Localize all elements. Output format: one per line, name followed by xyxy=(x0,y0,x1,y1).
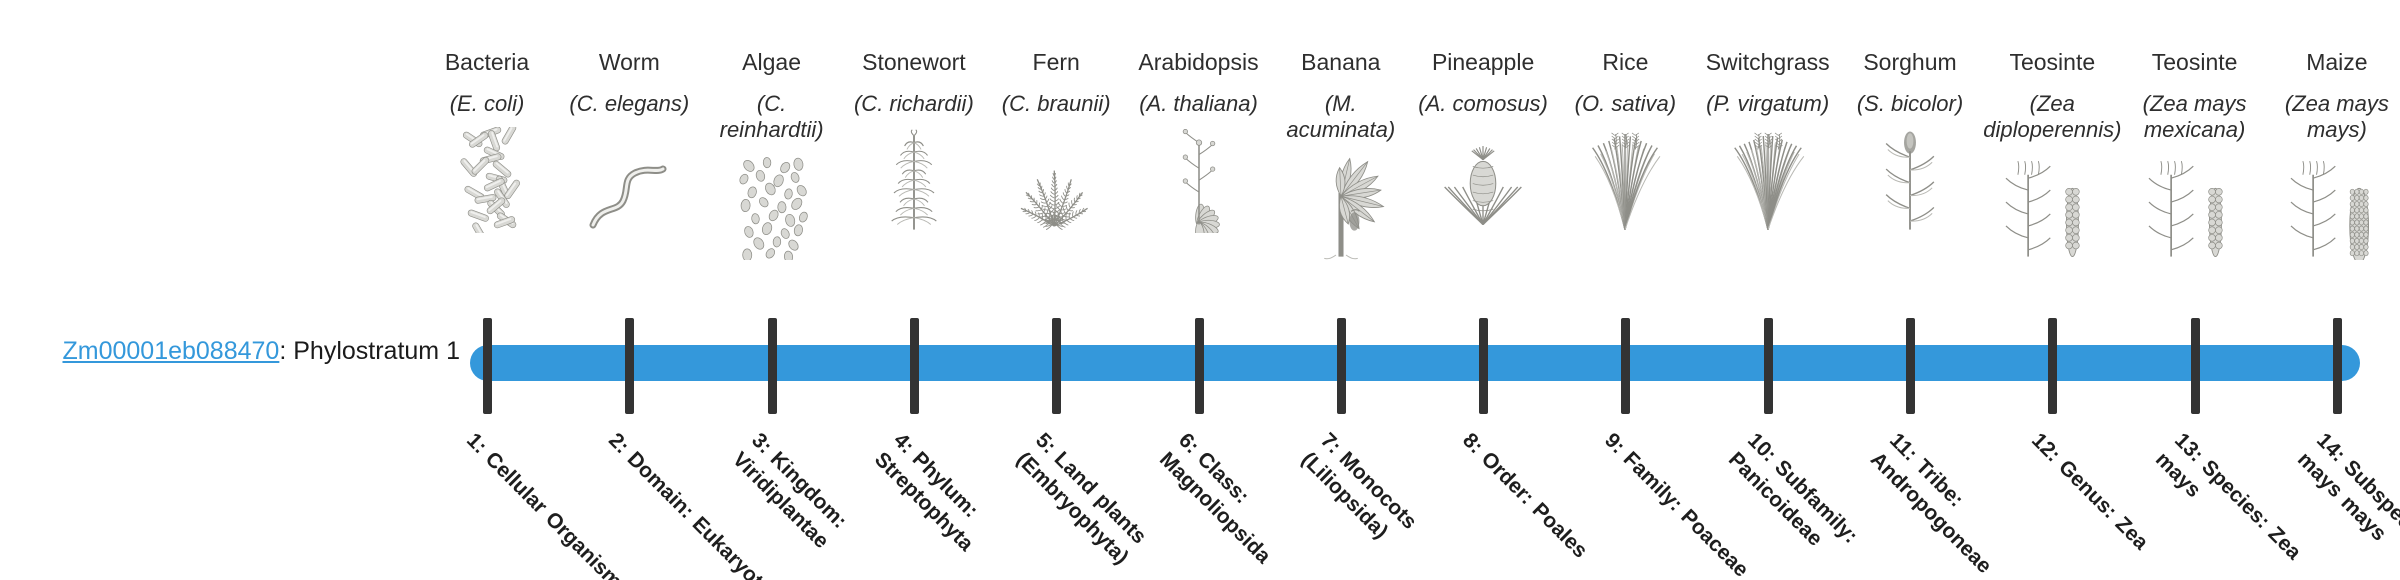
species-scientific-name: (Zea diploperennis) xyxy=(1981,91,2123,144)
species-scientific-name: (S. bicolor) xyxy=(1839,91,1981,117)
species-column: Sorghum(S. bicolor) xyxy=(1839,48,1981,233)
fern-icon xyxy=(985,125,1127,233)
species-column: Bacteria(E. coli) xyxy=(416,48,558,233)
switchgrass-icon xyxy=(1697,125,1839,233)
timeline-tick xyxy=(2333,318,2342,414)
species-scientific-name: (Zea mays mexicana) xyxy=(2124,91,2266,144)
gene-id-link[interactable]: Zm00001eb088470 xyxy=(62,337,279,365)
sorghum-icon xyxy=(1839,125,1981,233)
species-common-name: Bacteria xyxy=(416,48,558,77)
banana-icon xyxy=(1270,152,1412,260)
species-common-name: Teosinte xyxy=(1981,48,2123,77)
species-common-name: Fern xyxy=(985,48,1127,77)
bacteria-icon xyxy=(416,125,558,233)
species-common-name: Maize xyxy=(2266,48,2400,77)
teosinte-diploperennis-icon xyxy=(1981,152,2123,260)
timeline-tick xyxy=(2191,318,2200,414)
species-scientific-name: (C. elegans) xyxy=(558,91,700,117)
species-column: Teosinte(Zea mays mexicana) xyxy=(2124,48,2266,260)
timeline-tick xyxy=(768,318,777,414)
species-scientific-name: (C. richardii) xyxy=(843,91,985,117)
species-common-name: Switchgrass xyxy=(1697,48,1839,77)
timeline-tick xyxy=(1906,318,1915,414)
species-column: Maize(Zea mays mays) xyxy=(2266,48,2400,260)
timeline-tick xyxy=(1052,318,1061,414)
species-scientific-name: (C. braunii) xyxy=(985,91,1127,117)
species-column: Pineapple(A. comosus) xyxy=(1412,48,1554,233)
phylostratum-value: Phylostratum 1 xyxy=(293,337,460,365)
species-scientific-name: (Zea mays mays) xyxy=(2266,91,2400,144)
species-common-name: Stonewort xyxy=(843,48,985,77)
worm-icon xyxy=(558,125,700,233)
species-column: Teosinte(Zea diploperennis) xyxy=(1981,48,2123,260)
species-common-name: Banana xyxy=(1270,48,1412,77)
species-scientific-name: (O. sativa) xyxy=(1554,91,1696,117)
species-column: Banana(M. acuminata) xyxy=(1270,48,1412,260)
stonewort-icon xyxy=(843,125,985,233)
timeline-tick xyxy=(1195,318,1204,414)
timeline-tick xyxy=(1764,318,1773,414)
maize-icon xyxy=(2266,152,2400,260)
species-common-name: Pineapple xyxy=(1412,48,1554,77)
teosinte-mexicana-icon xyxy=(2124,152,2266,260)
timeline-tick xyxy=(625,318,634,414)
species-common-name: Teosinte xyxy=(2124,48,2266,77)
species-scientific-name: (C. reinhardtii) xyxy=(701,91,843,144)
timeline-tick xyxy=(483,318,492,414)
pineapple-icon xyxy=(1412,125,1554,233)
timeline-tick xyxy=(1479,318,1488,414)
gene-label-separator: : xyxy=(279,337,293,365)
species-scientific-name: (A. comosus) xyxy=(1412,91,1554,117)
timeline-tick xyxy=(2048,318,2057,414)
species-column: Stonewort(C. richardii) xyxy=(843,48,985,233)
rice-icon xyxy=(1554,125,1696,233)
species-common-name: Algae xyxy=(701,48,843,77)
species-column: Fern(C. braunii) xyxy=(985,48,1127,233)
species-scientific-name: (M. acuminata) xyxy=(1270,91,1412,144)
species-scientific-name: (E. coli) xyxy=(416,91,558,117)
species-column: Switchgrass(P. virgatum) xyxy=(1697,48,1839,233)
species-column: Arabidopsis(A. thaliana) xyxy=(1128,48,1270,233)
arabidopsis-icon xyxy=(1128,125,1270,233)
species-common-name: Rice xyxy=(1554,48,1696,77)
species-common-name: Arabidopsis xyxy=(1128,48,1270,77)
phylostratigraphy-figure: Zm00001eb088470: Phylostratum 1 Bacteria… xyxy=(0,0,2400,580)
species-common-name: Worm xyxy=(558,48,700,77)
species-column: Algae(C. reinhardtii) xyxy=(701,48,843,260)
phylostratum-timeline-bar xyxy=(470,345,2360,381)
timeline-tick xyxy=(910,318,919,414)
species-column: Rice(O. sativa) xyxy=(1554,48,1696,233)
species-scientific-name: (A. thaliana) xyxy=(1128,91,1270,117)
timeline-tick xyxy=(1337,318,1346,414)
species-common-name: Sorghum xyxy=(1839,48,1981,77)
timeline-tick xyxy=(1621,318,1630,414)
gene-phylostratum-label: Zm00001eb088470: Phylostratum 1 xyxy=(40,336,460,366)
species-scientific-name: (P. virgatum) xyxy=(1697,91,1839,117)
species-column: Worm(C. elegans) xyxy=(558,48,700,233)
algae-icon xyxy=(701,152,843,260)
